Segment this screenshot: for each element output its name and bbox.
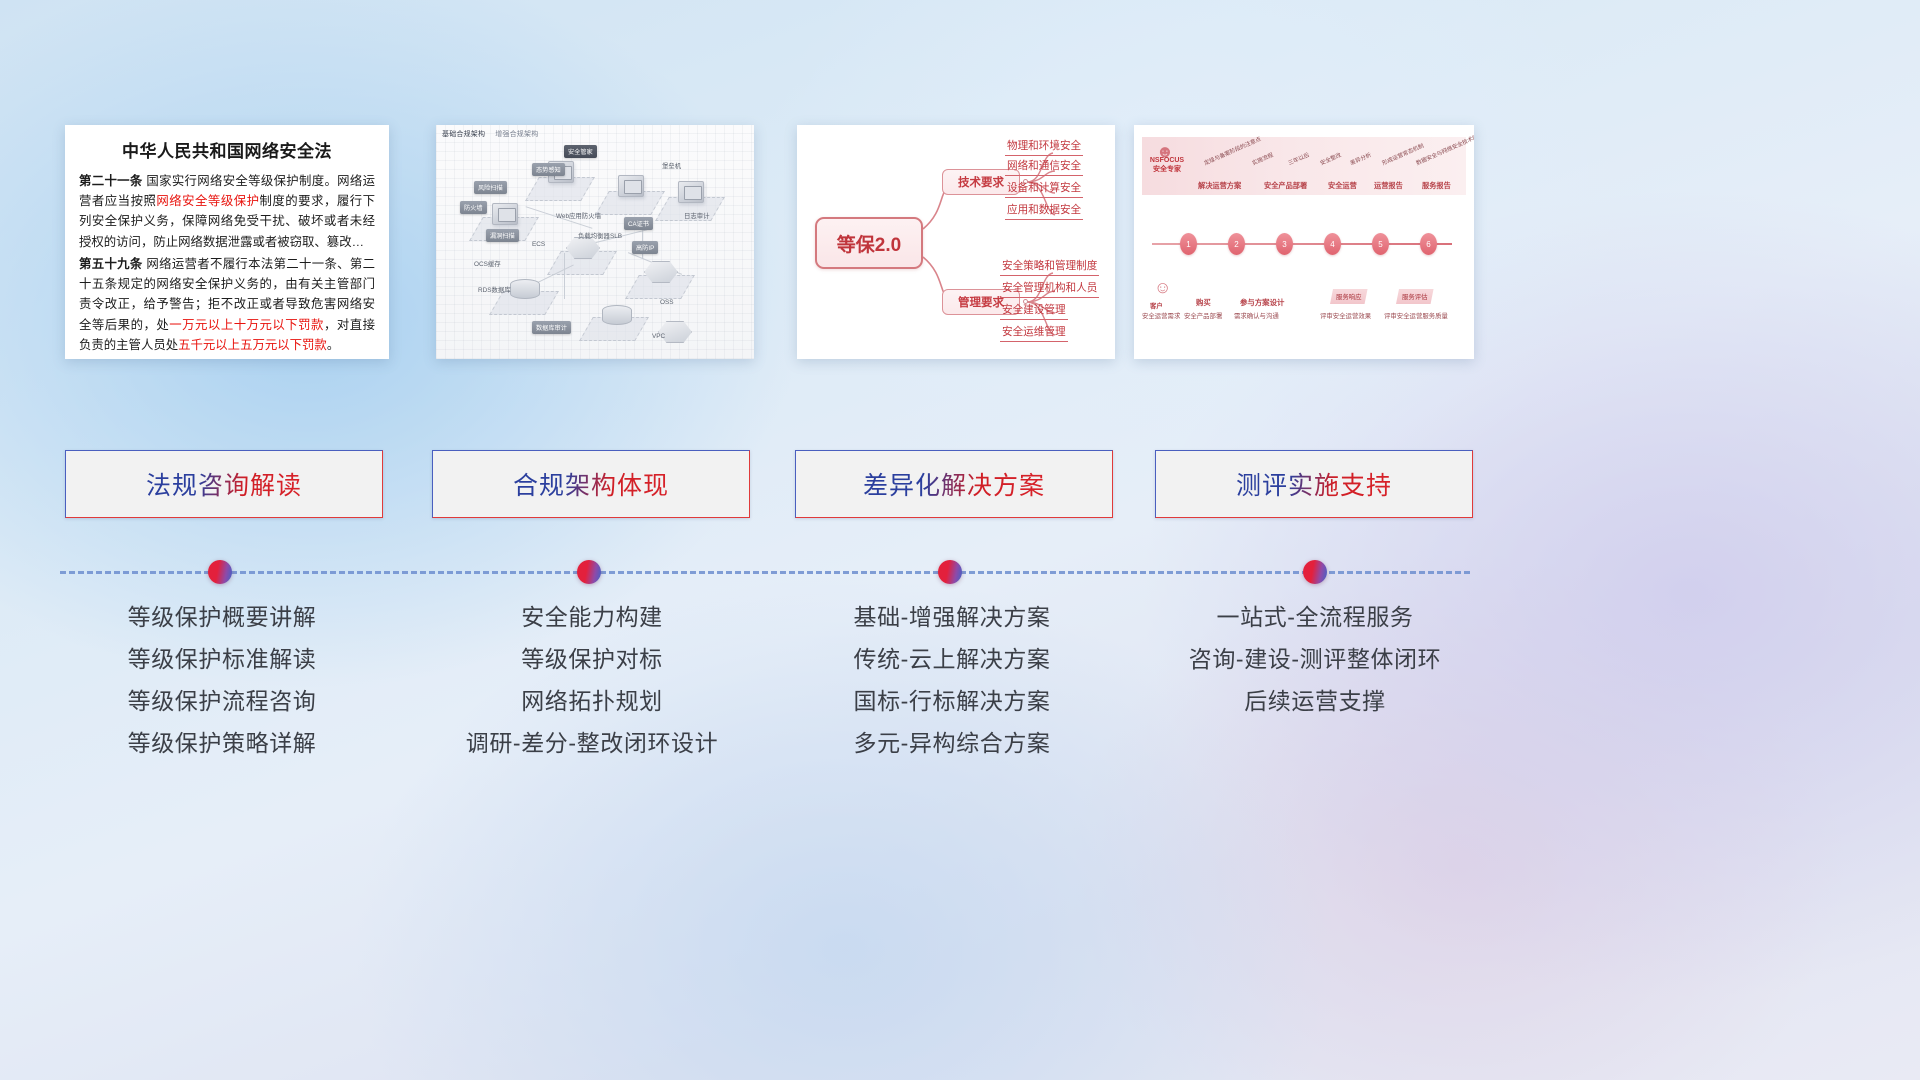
card-mindmap[interactable]: 等保2.0 技术要求 物理和环境安全 网络和通信安全 设备和计算安全 应用和数据… — [797, 125, 1115, 359]
section-header-compliance-architecture[interactable]: 合规架构体现 — [432, 450, 750, 518]
detail-list-differentiated-solution: 基础-增强解决方案 传统-云上解决方案 国标-行标解决方案 多元-异构综合方案 — [772, 606, 1132, 774]
card-architecture-diagram[interactable]: 基础合规架构增强合规架构 — [436, 125, 754, 359]
section-header-label: 差异化解决方案 — [863, 466, 1045, 502]
nsfocus-step[interactable]: 5 — [1372, 233, 1389, 255]
nsfocus-footer-item-sub: 需求确认与沟通 — [1234, 311, 1279, 320]
nsfocus-subtitle: 运营报告 — [1374, 181, 1403, 191]
section-header-label: 测评实施支持 — [1236, 466, 1392, 502]
section-header-assessment-support[interactable]: 测评实施支持 — [1155, 450, 1473, 518]
section-header-differentiated-solution[interactable]: 差异化解决方案 — [795, 450, 1113, 518]
nsfocus-brand-line2: 安全专家 — [1153, 166, 1181, 175]
article-21-highlight: 网络安全等级保护 — [156, 194, 259, 208]
nsfocus-brand: NSFOCUS 安全专家 — [1144, 143, 1190, 189]
timeline-dashed-line — [60, 571, 1470, 574]
architecture-canvas: 基础合规架构增强合规架构 — [436, 125, 754, 359]
nsfocus-subtitle: 安全产品部署 — [1264, 181, 1307, 191]
diagram-chip: 风险扫描 — [474, 181, 507, 194]
diagram-label: 堡垒机 — [662, 161, 681, 170]
section-header-row: 法规咨询解读 合规架构体现 差异化解决方案 测评实施支持 — [0, 450, 1920, 518]
architecture-header-basic: 基础合规架构 — [442, 131, 485, 138]
article-59-highlight-2: 五千元以上五万元以下罚款 — [178, 338, 327, 352]
article-59-highlight-1: 一万元以上十万元以下罚款 — [169, 318, 324, 332]
list-item: 等级保护标准解读 — [42, 648, 402, 671]
list-item: 网络拓扑规划 — [412, 690, 772, 713]
mindmap-leaf: 安全策略和管理制度 — [1000, 261, 1099, 276]
timeline-node-4[interactable] — [1303, 560, 1327, 584]
diagram-storage — [602, 305, 632, 325]
section-header-regulation-consulting[interactable]: 法规咨询解读 — [65, 450, 383, 518]
list-item: 等级保护对标 — [412, 648, 772, 671]
nsfocus-step[interactable]: 1 — [1180, 233, 1197, 255]
nsfocus-footer-item-sub: 安全产品部署 — [1184, 311, 1222, 320]
article-59-end: 。 — [327, 338, 339, 352]
nsfocus-footer-item: 参与方案设计 — [1240, 297, 1284, 308]
mindmap-canvas: 等保2.0 技术要求 物理和环境安全 网络和通信安全 设备和计算安全 应用和数据… — [797, 125, 1115, 359]
diagram-server — [678, 181, 704, 203]
diagram-server — [492, 203, 518, 225]
list-item: 调研-差分-整改闭环设计 — [412, 732, 772, 755]
nsfocus-subtitle: 服务报告 — [1422, 181, 1451, 191]
diagram-label: VPC — [652, 333, 665, 340]
list-item: 咨询-建设-测评整体闭环 — [1135, 648, 1495, 671]
nsfocus-subtitle: 解决运营方案 — [1198, 181, 1241, 191]
diagram-chip: CA证书 — [624, 217, 653, 230]
diagram-chip: 高防IP — [632, 241, 658, 254]
diagram-chip: 防火墙 — [460, 201, 487, 214]
law-title: 中华人民共和国网络安全法 — [79, 137, 375, 162]
section-detail-lists: 等级保护概要讲解 等级保护标准解读 等级保护流程咨询 等级保护策略详解 安全能力… — [0, 606, 1920, 806]
list-item: 基础-增强解决方案 — [772, 606, 1132, 629]
nsfocus-step[interactable]: 3 — [1276, 233, 1293, 255]
mindmap-leaf: 安全管理机构和人员 — [1000, 283, 1099, 298]
nsfocus-brand-line1: NSFOCUS — [1150, 157, 1184, 166]
diagram-label: OSS — [660, 299, 674, 306]
article-59-label: 第五十九条 — [79, 257, 143, 271]
timeline — [0, 560, 1920, 584]
diagram-database — [510, 279, 540, 299]
law-document: 中华人民共和国网络安全法 第二十一条 国家实行网络安全等级保护制度。网络运营者应… — [65, 125, 389, 359]
nsfocus-canvas: ☻ NSFOCUS 安全专家 定级与备案阶段的注意点 实施流程 三年以后 安全整… — [1134, 125, 1474, 359]
timeline-node-1[interactable] — [208, 560, 232, 584]
customer-icon: ☺ — [1154, 279, 1171, 296]
diagram-chip: 漏洞扫描 — [486, 229, 519, 242]
list-item: 传统-云上解决方案 — [772, 648, 1132, 671]
diagram-label: ECS — [532, 241, 545, 248]
mindmap-leaf: 设备和计算安全 — [1005, 183, 1083, 198]
diagram-label: 负载均衡器SLB — [578, 231, 622, 240]
nsfocus-pill-sub: 评审安全运营效果 — [1320, 311, 1371, 320]
list-item: 多元-异构综合方案 — [772, 732, 1132, 755]
mindmap-root-node[interactable]: 等保2.0 — [815, 217, 923, 269]
nsfocus-subtitle: 安全运营 — [1328, 181, 1357, 191]
section-header-label: 合规架构体现 — [513, 466, 669, 502]
diagram-label: Web应用防火墙 — [556, 211, 601, 220]
detail-list-regulation-consulting: 等级保护概要讲解 等级保护标准解读 等级保护流程咨询 等级保护策略详解 — [42, 606, 402, 774]
mindmap-leaf: 物理和环境安全 — [1005, 141, 1083, 156]
nsfocus-step[interactable]: 4 — [1324, 233, 1341, 255]
mindmap-leaf: 安全建设管理 — [1000, 305, 1068, 320]
diagram-label: OCS缓存 — [474, 259, 501, 268]
nsfocus-step[interactable]: 6 — [1420, 233, 1437, 255]
diagram-label: 日志审计 — [684, 211, 710, 220]
mindmap-leaf: 网络和通信安全 — [1005, 161, 1083, 176]
detail-list-compliance-architecture: 安全能力构建 等级保护对标 网络拓扑规划 调研-差分-整改闭环设计 — [412, 606, 772, 774]
card-cybersecurity-law[interactable]: 中华人民共和国网络安全法 第二十一条 国家实行网络安全等级保护制度。网络运营者应… — [65, 125, 389, 359]
nsfocus-footer-item: 购买 — [1196, 297, 1211, 308]
architecture-header-enhanced: 增强合规架构 — [495, 131, 538, 138]
mindmap-leaf: 安全运维管理 — [1000, 327, 1068, 342]
section-header-label: 法规咨询解读 — [146, 466, 302, 502]
article-21-label: 第二十一条 — [79, 174, 143, 188]
detail-list-assessment-support: 一站式-全流程服务 咨询-建设-测评整体闭环 后续运营支撑 — [1135, 606, 1495, 732]
timeline-node-3[interactable] — [938, 560, 962, 584]
nsfocus-axis — [1152, 243, 1452, 245]
law-article-59: 第五十九条 网络运营者不履行本法第二十一条、第二十五条规定的网络安全保护义务的，… — [79, 254, 375, 355]
mindmap-leaf: 应用和数据安全 — [1005, 205, 1083, 220]
diagram-connector — [564, 253, 565, 299]
list-item: 后续运营支撑 — [1135, 690, 1495, 713]
list-item: 等级保护流程咨询 — [42, 690, 402, 713]
diagram-server — [618, 175, 644, 197]
list-item: 等级保护策略详解 — [42, 732, 402, 755]
nsfocus-footer-sub: 安全运营需求 — [1142, 311, 1180, 320]
architecture-header: 基础合规架构增强合规架构 — [442, 129, 548, 139]
law-article-21: 第二十一条 国家实行网络安全等级保护制度。网络运营者应当按照网络安全等级保护制度… — [79, 171, 375, 252]
timeline-node-2[interactable] — [577, 560, 601, 584]
nsfocus-footer-title: 客户 — [1150, 301, 1163, 310]
diagram-chip: 态势感知 — [532, 163, 565, 176]
nsfocus-pill-sub: 评审安全运营服务质量 — [1384, 311, 1448, 320]
nsfocus-pill: 服务响应 — [1330, 289, 1368, 304]
preview-card-row: 中华人民共和国网络安全法 第二十一条 国家实行网络安全等级保护制度。网络运营者应… — [0, 125, 1920, 365]
diagram-chip: 数据库审计 — [532, 321, 571, 334]
list-item: 等级保护概要讲解 — [42, 606, 402, 629]
nsfocus-step[interactable]: 2 — [1228, 233, 1245, 255]
diagram-label: RDS数据库 — [478, 285, 511, 294]
list-item: 一站式-全流程服务 — [1135, 606, 1495, 629]
list-item: 国标-行标解决方案 — [772, 690, 1132, 713]
diagram-chip: 安全管家 — [564, 145, 597, 158]
list-item: 安全能力构建 — [412, 606, 772, 629]
nsfocus-pill: 服务评估 — [1396, 289, 1434, 304]
card-nsfocus-timeline[interactable]: ☻ NSFOCUS 安全专家 定级与备案阶段的注意点 实施流程 三年以后 安全整… — [1134, 125, 1474, 359]
